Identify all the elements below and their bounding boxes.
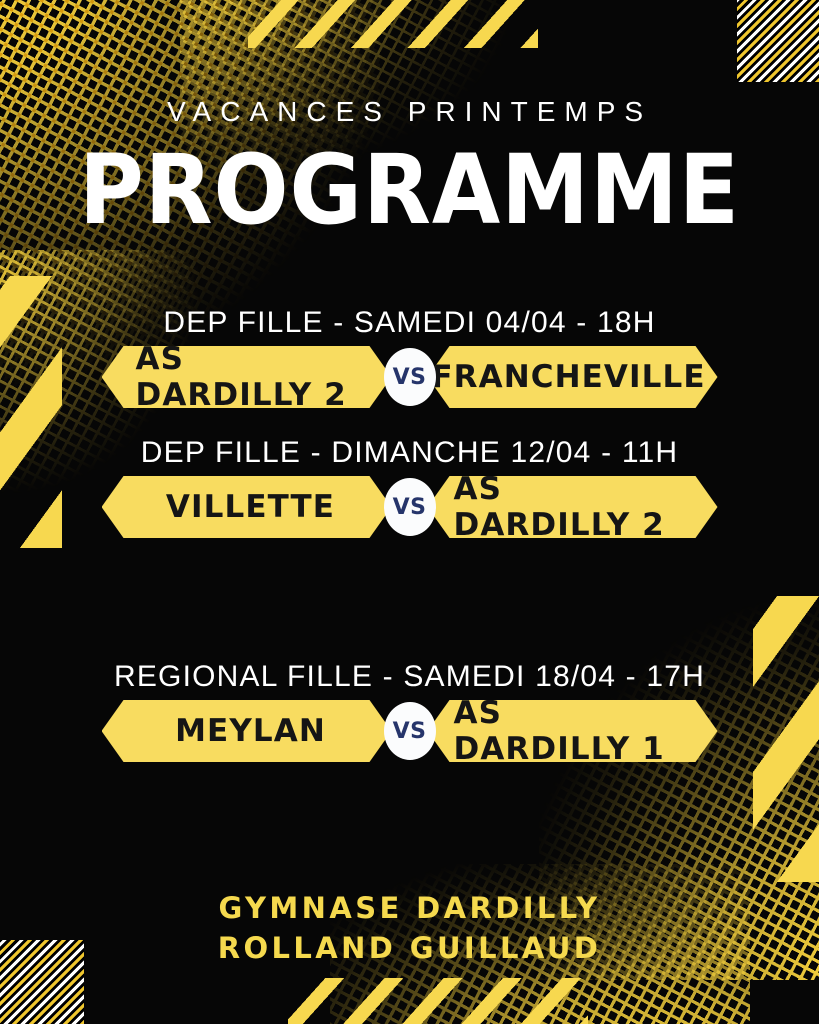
match-group: REGIONAL FILLE - SAMEDI 18/04 - 17H MEYL… [0, 660, 819, 762]
home-team-pill: VILLETTE [102, 476, 392, 538]
match-header: DEP FILLE - DIMANCHE 12/04 - 11H [0, 436, 819, 470]
match-header: REGIONAL FILLE - SAMEDI 18/04 - 17H [0, 660, 819, 694]
programme-poster: VACANCES PRINTEMPS PROGRAMME DEP FILLE -… [0, 0, 819, 1024]
match-row: VILLETTE VS AS DARDILLY 2 [0, 476, 819, 538]
venue-block: GYMNASE DARDILLY ROLLAND GUILLAUD [0, 888, 819, 968]
away-team-pill: AS DARDILLY 2 [428, 476, 718, 538]
vs-badge: VS [384, 478, 436, 536]
venue-line-2: ROLLAND GUILLAUD [0, 928, 819, 968]
home-team-pill: MEYLAN [102, 700, 392, 762]
away-team-pill: FRANCHEVILLE [428, 346, 718, 408]
venue-line-1: GYMNASE DARDILLY [0, 888, 819, 928]
match-row: AS DARDILLY 2 VS FRANCHEVILLE [0, 346, 819, 408]
match-header: DEP FILLE - SAMEDI 04/04 - 18H [0, 306, 819, 340]
match-group: DEP FILLE - SAMEDI 04/04 - 18H AS DARDIL… [0, 306, 819, 408]
away-team-pill: AS DARDILLY 1 [428, 700, 718, 762]
vs-badge: VS [384, 348, 436, 406]
vs-badge: VS [384, 702, 436, 760]
home-team-pill: AS DARDILLY 2 [102, 346, 392, 408]
match-group: DEP FILLE - DIMANCHE 12/04 - 11H VILLETT… [0, 436, 819, 538]
page-title: PROGRAMME [33, 142, 786, 238]
match-row: MEYLAN VS AS DARDILLY 1 [0, 700, 819, 762]
poster-kicker: VACANCES PRINTEMPS [0, 96, 819, 128]
